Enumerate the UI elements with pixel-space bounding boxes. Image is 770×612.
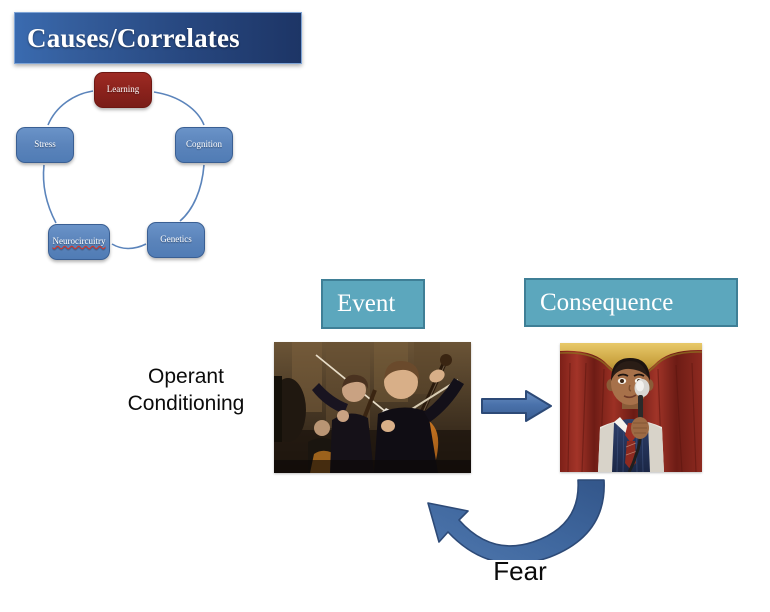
event-header-label: Event	[323, 290, 395, 318]
cycle-node-stress-label: Stress	[34, 140, 56, 150]
operant-conditioning-line1: Operant	[100, 364, 272, 391]
page-title: Causes/Correlates	[15, 23, 240, 54]
event-photo-orchestra-cellists	[274, 342, 471, 473]
cycle-node-neurocircuitry[interactable]: Neurocircuitry	[48, 224, 110, 260]
consequence-header-box[interactable]: Consequence	[524, 278, 738, 327]
cycle-node-stress[interactable]: Stress	[16, 127, 74, 163]
consequence-to-event-feedback-arrow	[415, 478, 620, 560]
right-arrow-icon	[480, 388, 554, 424]
cycle-node-neurocircuitry-label: Neurocircuitry	[53, 237, 106, 247]
cycle-node-learning-label: Learning	[107, 85, 139, 95]
consequence-photo-boy-at-microphone	[560, 343, 702, 472]
cycle-node-cognition-label: Cognition	[186, 140, 222, 150]
operant-conditioning-line2: Conditioning	[100, 391, 272, 418]
cycle-node-cognition[interactable]: Cognition	[175, 127, 233, 163]
slide-title-banner: Causes/Correlates	[14, 12, 302, 64]
cycle-node-genetics[interactable]: Genetics	[147, 222, 205, 258]
causes-correlates-cycle-diagram: Learning Cognition Genetics Neurocircuit…	[8, 62, 248, 282]
fear-label: Fear	[440, 556, 600, 587]
event-header-box[interactable]: Event	[321, 279, 425, 329]
curved-up-left-arrow-icon	[415, 478, 620, 560]
consequence-header-label: Consequence	[526, 289, 673, 317]
cycle-node-learning[interactable]: Learning	[94, 72, 152, 108]
orchestra-cellists-illustration	[274, 342, 471, 473]
operant-conditioning-label: Operant Conditioning	[100, 364, 272, 418]
boy-at-microphone-illustration	[560, 343, 702, 472]
cycle-node-genetics-label: Genetics	[160, 235, 192, 245]
event-to-consequence-arrow	[480, 388, 554, 424]
